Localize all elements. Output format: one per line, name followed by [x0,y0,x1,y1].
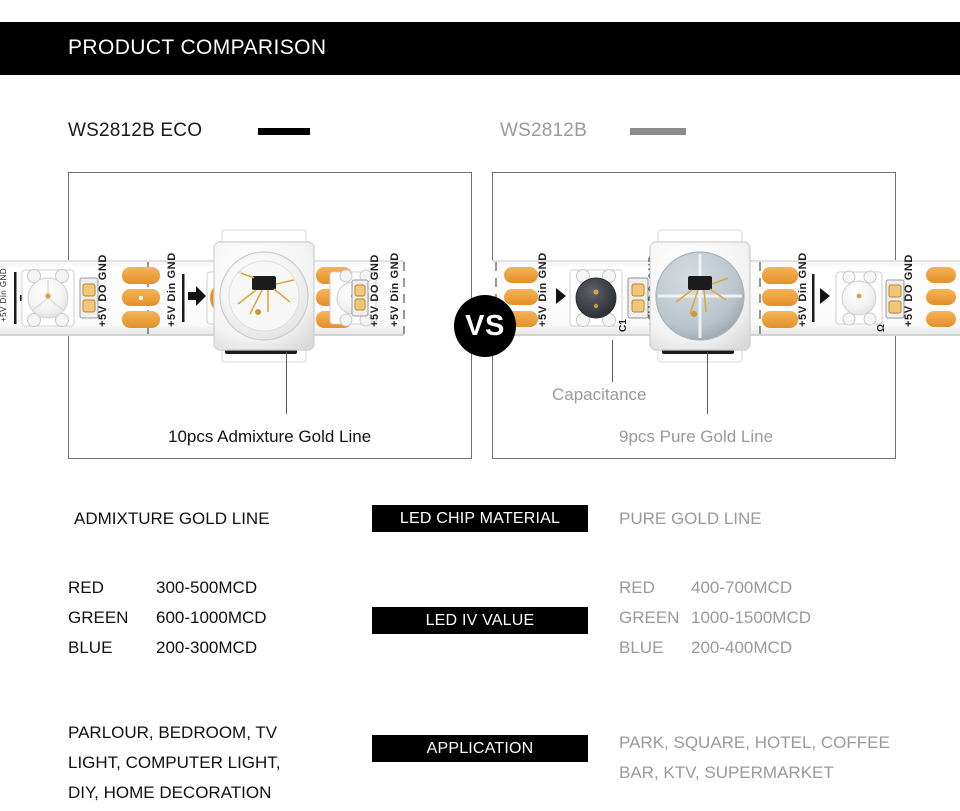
iv-left-row-green: GREEN 600-1000MCD [68,603,267,633]
row-application-left: PARLOUR, BEDROOM, TV LIGHT, COMPUTER LIG… [68,718,281,808]
product-rule-left [258,128,310,135]
iv-right-value-green: 1000-1500MCD [691,603,811,633]
iv-right-row-green: GREEN 1000-1500MCD [619,603,811,633]
iv-left-value-red: 300-500MCD [156,573,257,603]
application-left-line-2: LIGHT, COMPUTER LIGHT, [68,748,281,778]
caption-left: 10pcs Admixture Gold Line [168,427,371,447]
row-application-right: PARK, SQUARE, HOTEL, COFFEE BAR, KTV, SU… [619,728,890,788]
iv-left-value-blue: 200-300MCD [156,633,257,663]
iv-left-row-red: RED 300-500MCD [68,573,267,603]
band-led-chip-material: LED CHIP MATERIAL [372,505,588,532]
iv-right-value-red: 400-700MCD [691,573,792,603]
svg-text:+5V Din GND: +5V Din GND [0,268,8,322]
caption-right: 9pcs Pure Gold Line [619,427,773,447]
application-left-line-1: PARLOUR, BEDROOM, TV [68,718,281,748]
iv-right-value-blue: 200-400MCD [691,633,792,663]
product-rule-right [630,128,686,135]
row-chip-material-right: PURE GOLD LINE [619,504,762,534]
application-left-line-3: DIY, HOME DECORATION [68,778,281,808]
iv-right-row-blue: BLUE 200-400MCD [619,633,811,663]
product-name-right: WS2812B [500,120,587,142]
row-iv-right: RED 400-700MCD GREEN 1000-1500MCD BLUE 2… [619,573,811,663]
iv-left-key-red: RED [68,573,156,603]
photo-panel-left [68,172,472,459]
vs-badge: VS [454,295,516,357]
iv-left-value-green: 600-1000MCD [156,603,267,633]
band-led-iv-value: LED IV VALUE [372,607,588,634]
iv-left-key-green: GREEN [68,603,156,633]
svg-text:+5V DO GND: +5V DO GND [903,254,915,327]
iv-left-row-blue: BLUE 200-300MCD [68,633,267,663]
leader-line-right-gold [707,352,708,414]
application-right-line-1: PARK, SQUARE, HOTEL, COFFEE [619,728,890,758]
capacitance-label: Capacitance [552,385,647,405]
row-iv-left: RED 300-500MCD GREEN 600-1000MCD BLUE 20… [68,573,267,663]
leader-line-left [286,352,287,414]
iv-right-key-red: RED [619,573,691,603]
band-application: APPLICATION [372,735,588,762]
page-title: PRODUCT COMPARISON [68,36,326,60]
leader-line-capacitance [612,340,613,382]
photo-panel-right [492,172,896,459]
application-right-line-2: BAR, KTV, SUPERMARKET [619,758,890,788]
iv-right-row-red: RED 400-700MCD [619,573,811,603]
product-comparison-page: PRODUCT COMPARISON WS2812B ECO WS2812B [0,0,960,811]
iv-right-key-blue: BLUE [619,633,691,663]
product-name-left: WS2812B ECO [68,120,202,142]
iv-right-key-green: GREEN [619,603,691,633]
iv-left-key-blue: BLUE [68,633,156,663]
row-chip-material-left: ADMIXTURE GOLD LINE [74,504,270,534]
